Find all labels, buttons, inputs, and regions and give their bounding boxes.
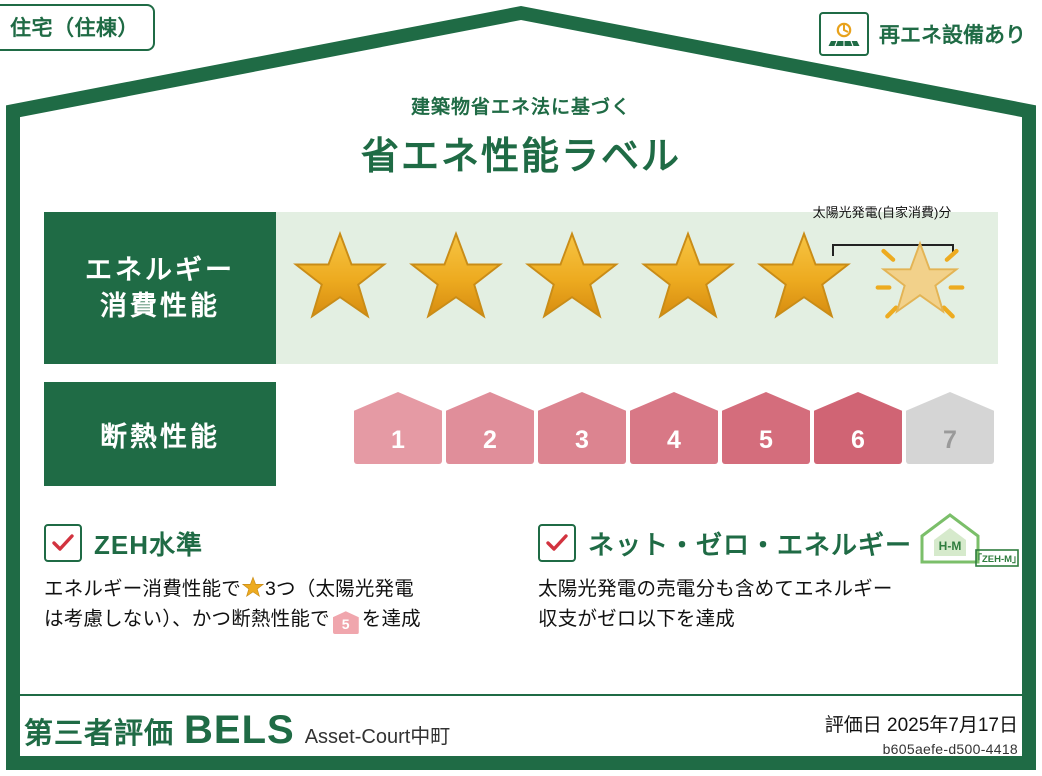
insulation-grade-3-label: 3 xyxy=(575,426,589,455)
building-type-tag: 住宅（住棟） xyxy=(0,4,155,51)
zeh-m-mark-bottom-label: 「ZEH-M」 xyxy=(972,553,1021,565)
bels-block: 第三者評価 BELS Asset-Court中町 xyxy=(24,708,450,753)
insulation-grade-5: 5 xyxy=(722,392,810,464)
insulation-grade-7: 7 xyxy=(906,392,994,464)
star-icon-filled-3 xyxy=(524,228,620,324)
solar-panel-icon xyxy=(819,12,869,56)
zeh-standard-block: ZEH水準 エネルギー消費性能で3つ（太陽光発電 は考慮しない）、かつ断熱性能で… xyxy=(44,524,512,634)
evaluation-meta: 評価日 2025年7月17日 b605aefe-d500-4418 xyxy=(825,710,1018,757)
net-zero-energy-description: 太陽光発電の売電分も含めてエネルギー 収支がゼロ以下を達成 xyxy=(538,574,1006,634)
energy-performance-row-label: エネルギー 消費性能 xyxy=(44,212,276,364)
nze-desc-line1: 太陽光発電の売電分も含めてエネルギー xyxy=(538,578,893,600)
insulation-label: 断熱性能 xyxy=(100,415,220,454)
net-zero-energy-block: ネット・ゼロ・エネルギー H-M 「ZEH-M」 太陽光発電の売電分も含めてエネ… xyxy=(538,524,1006,634)
zeh-desc-part1: エネルギー消費性能で xyxy=(44,578,241,600)
insulation-grade-inline-label: 5 xyxy=(333,611,359,638)
zeh-desc-part4: を達成 xyxy=(362,608,421,630)
bels-logo-text: BELS xyxy=(184,708,295,753)
energy-label-line1: エネルギー xyxy=(85,252,235,288)
energy-label-line2: 消費性能 xyxy=(100,288,220,324)
energy-performance-row-body: 太陽光発電(自家消費)分 xyxy=(276,212,998,364)
title-subtitle: 建築物省エネ法に基づく xyxy=(0,92,1042,119)
insulation-grade-6-label: 6 xyxy=(851,426,865,455)
star-icon-filled-2 xyxy=(408,228,504,324)
criteria-section: ZEH水準 エネルギー消費性能で3つ（太陽光発電 は考慮しない）、かつ断熱性能で… xyxy=(44,524,1006,634)
insulation-grade-2: 2 xyxy=(446,392,534,464)
star-icon-filled-1 xyxy=(292,228,388,324)
insulation-grade-scale: 1 2 3 4 5 6 7 xyxy=(354,392,994,464)
energy-performance-row: エネルギー 消費性能 太陽光発電(自家消費)分 xyxy=(44,212,998,364)
insulation-grade-4-label: 4 xyxy=(667,426,681,455)
checkbox-checked-icon-zeh xyxy=(44,524,82,562)
insulation-performance-row-label: 断熱性能 xyxy=(44,382,276,486)
star-icon-inline xyxy=(242,576,264,598)
title-block: 建築物省エネ法に基づく 省エネ性能ラベル xyxy=(0,92,1042,180)
insulation-performance-row: 断熱性能 1 2 3 4 5 6 7 xyxy=(44,382,998,486)
insulation-grade-5-label: 5 xyxy=(759,426,773,455)
zeh-m-mark-top-label: H-M xyxy=(939,539,962,553)
evaluation-date: 評価日 2025年7月17日 xyxy=(825,710,1018,737)
star-icon-filled-5 xyxy=(756,228,852,324)
property-name: Asset-Court中町 xyxy=(305,720,451,749)
insulation-grade-1: 1 xyxy=(354,392,442,464)
evaluation-id: b605aefe-d500-4418 xyxy=(825,741,1018,757)
net-zero-energy-title: ネット・ゼロ・エネルギー xyxy=(588,525,912,562)
insulation-grade-3: 3 xyxy=(538,392,626,464)
footer-divider xyxy=(20,694,1022,696)
star-icon-filled-4 xyxy=(640,228,736,324)
zeh-standard-head: ZEH水準 xyxy=(44,524,512,562)
insulation-grade-6: 6 xyxy=(814,392,902,464)
footer: 第三者評価 BELS Asset-Court中町 評価日 2025年7月17日 … xyxy=(0,700,1042,770)
insulation-grade-inline-5: 5 xyxy=(333,611,359,634)
nze-desc-line2: 収支がゼロ以下を達成 xyxy=(538,608,735,630)
zeh-standard-description: エネルギー消費性能で3つ（太陽光発電 は考慮しない）、かつ断熱性能で5を達成 xyxy=(44,574,512,634)
zeh-desc-part2: 3つ（太陽光発電 xyxy=(265,578,414,600)
renewable-equipment-badge: 再エネ設備あり xyxy=(811,6,1036,62)
insulation-performance-row-body: 1 2 3 4 5 6 7 xyxy=(276,382,998,486)
insulation-grade-4: 4 xyxy=(630,392,718,464)
renewable-badge-label: 再エネ設備あり xyxy=(879,19,1026,49)
zeh-m-mark-icon: H-M 「ZEH-M」 xyxy=(914,510,1022,574)
insulation-grade-2-label: 2 xyxy=(483,426,497,455)
checkbox-checked-icon-nze xyxy=(538,524,576,562)
energy-star-rating xyxy=(292,228,968,324)
star-icon-solar-shining-6 xyxy=(872,228,968,324)
third-party-evaluation-label: 第三者評価 xyxy=(24,710,174,752)
zeh-standard-title: ZEH水準 xyxy=(94,525,203,562)
insulation-grade-1-label: 1 xyxy=(391,426,405,455)
zeh-desc-part3: は考慮しない）、かつ断熱性能で xyxy=(44,608,330,630)
solar-self-consumption-note: 太陽光発電(自家消費)分 xyxy=(782,202,982,221)
page-title: 省エネ性能ラベル xyxy=(0,125,1042,180)
insulation-grade-7-label: 7 xyxy=(943,426,957,455)
